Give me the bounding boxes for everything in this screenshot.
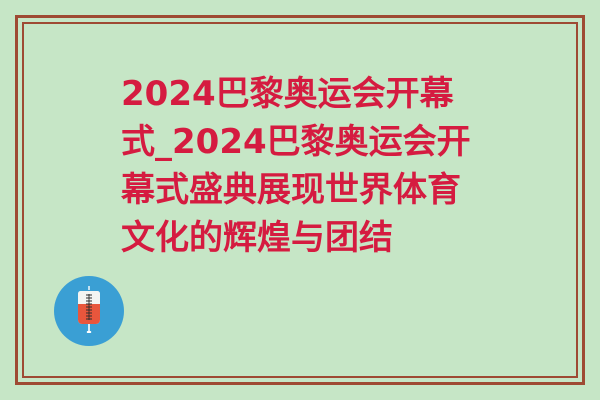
- page-title: 2024巴黎奥运会开幕式_2024巴黎奥运会开幕式盛典展现世界体育文化的辉煌与团…: [121, 70, 481, 262]
- blood-bag-icon: [54, 276, 124, 346]
- badge: [54, 276, 124, 346]
- poster-canvas: 2024巴黎奥运会开幕式_2024巴黎奥运会开幕式盛典展现世界体育文化的辉煌与团…: [0, 0, 600, 400]
